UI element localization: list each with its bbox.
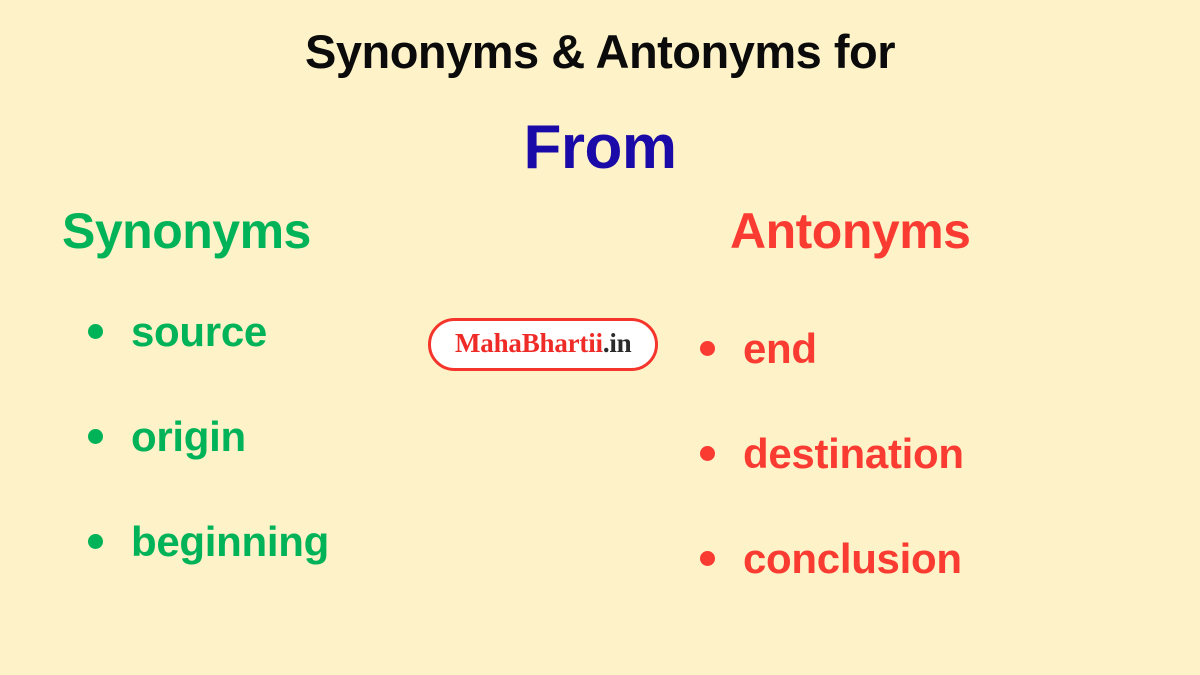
list-item: end bbox=[700, 318, 1170, 380]
list-item: origin bbox=[48, 406, 518, 468]
synonym-label: beginning bbox=[131, 521, 329, 563]
antonym-label: end bbox=[743, 328, 817, 370]
list-item: destination bbox=[700, 423, 1170, 485]
antonym-label: destination bbox=[743, 433, 964, 475]
list-item: conclusion bbox=[700, 528, 1170, 590]
synonym-label: origin bbox=[131, 416, 246, 458]
bullet-icon bbox=[88, 324, 103, 339]
bullet-icon bbox=[88, 429, 103, 444]
watermark-brand-text: MahaBhartii bbox=[455, 328, 603, 359]
antonym-label: conclusion bbox=[743, 538, 962, 580]
bullet-icon bbox=[700, 446, 715, 461]
synonyms-heading: Synonyms bbox=[62, 200, 518, 263]
synonyms-column: Synonyms source origin beginning bbox=[48, 200, 518, 616]
watermark-tld-text: .in bbox=[603, 328, 632, 359]
page-title: Synonyms & Antonyms for bbox=[0, 26, 1200, 78]
antonyms-list: end destination conclusion bbox=[700, 318, 1170, 590]
watermark-badge: MahaBhartii .in bbox=[428, 318, 658, 371]
bullet-icon bbox=[88, 534, 103, 549]
synonym-label: source bbox=[131, 311, 267, 353]
antonyms-column: Antonyms end destination conclusion bbox=[700, 200, 1170, 633]
bullet-icon bbox=[700, 341, 715, 356]
list-item: beginning bbox=[48, 511, 518, 573]
antonyms-heading: Antonyms bbox=[730, 200, 1170, 263]
word-columns: Synonyms source origin beginning Antonym… bbox=[0, 200, 1200, 675]
keyword-heading: From bbox=[0, 112, 1200, 183]
bullet-icon bbox=[700, 551, 715, 566]
slide-canvas: Synonyms & Antonyms for From Synonyms so… bbox=[0, 0, 1200, 675]
